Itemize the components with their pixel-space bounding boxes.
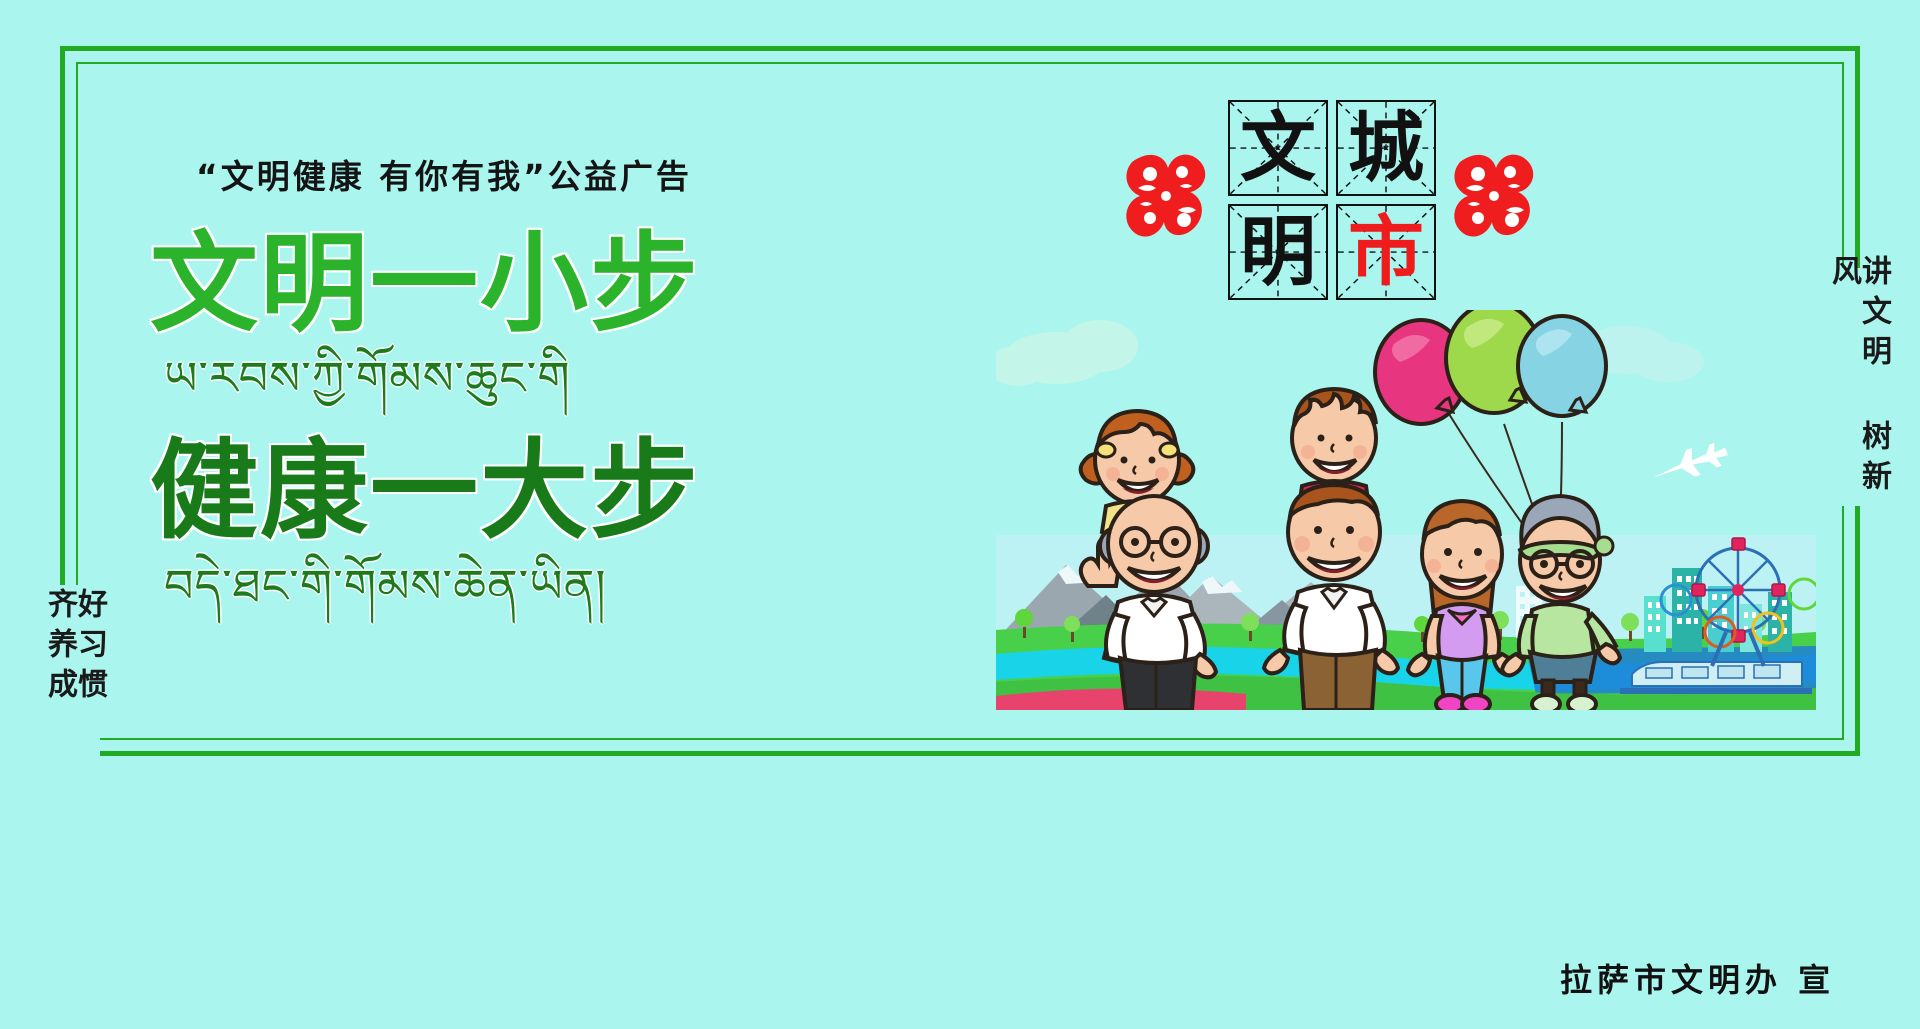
- blue-balloon: [1518, 316, 1606, 416]
- left-slogan-segment-1: 好习惯: [74, 588, 104, 828]
- logo-cell-ming: 明: [1228, 204, 1328, 300]
- papercut-ornament-right-icon: [1448, 144, 1540, 256]
- papercut-ornament-left-icon: [1120, 144, 1212, 256]
- logo-char-3: 明: [1230, 206, 1326, 298]
- logo-char-2: 城: [1338, 102, 1434, 194]
- left-vertical-slogan: 好习惯 齐养成: [44, 588, 104, 828]
- train-shape: [1620, 662, 1812, 694]
- headline-line-1-tibetan: ཡ་རབས་ཀྱི་གོམས་ཆུང་གི: [164, 347, 770, 409]
- publisher-credit: 拉萨市文明办 宣: [1560, 955, 1835, 1001]
- logo-character-grid: 文 城 明: [1228, 100, 1438, 300]
- headline-block: 文明一小步 ཡ་རབས་ཀྱི་གོམས་ཆུང་གི 健康一大步 བདེ་ཐང…: [150, 228, 770, 617]
- family-illustration: [996, 310, 1816, 710]
- headline-line-2-tibetan: བདེ་ཐང་གི་གོམས་ཆེན་ཡིན།: [164, 555, 770, 617]
- logo-cell-wen: 文: [1228, 100, 1328, 196]
- civilized-city-logo: 文 城 明: [1120, 100, 1540, 300]
- logo-char-4: 市: [1338, 206, 1434, 298]
- headline-line-1-chinese: 文明一小步: [150, 228, 770, 341]
- headline-line-2-chinese: 健康一大步: [150, 435, 770, 548]
- poster-canvas: 好习惯 齐养成 讲文明 树新风 “文明健康 有你有我”公益广告 文明一小步 ཡ་…: [0, 0, 1920, 1029]
- logo-char-1: 文: [1230, 102, 1326, 194]
- right-vertical-slogan: 讲文明 树新风: [1828, 255, 1888, 525]
- airplane-icon: [1648, 438, 1731, 489]
- logo-cell-cheng: 城: [1336, 100, 1436, 196]
- right-slogan-segment-1: 讲文明: [1856, 255, 1891, 375]
- left-slogan-segment-2: 齐养成: [44, 588, 74, 828]
- campaign-tagline: “文明健康 有你有我”公益广告: [196, 150, 692, 198]
- logo-cell-shi: 市: [1336, 204, 1436, 300]
